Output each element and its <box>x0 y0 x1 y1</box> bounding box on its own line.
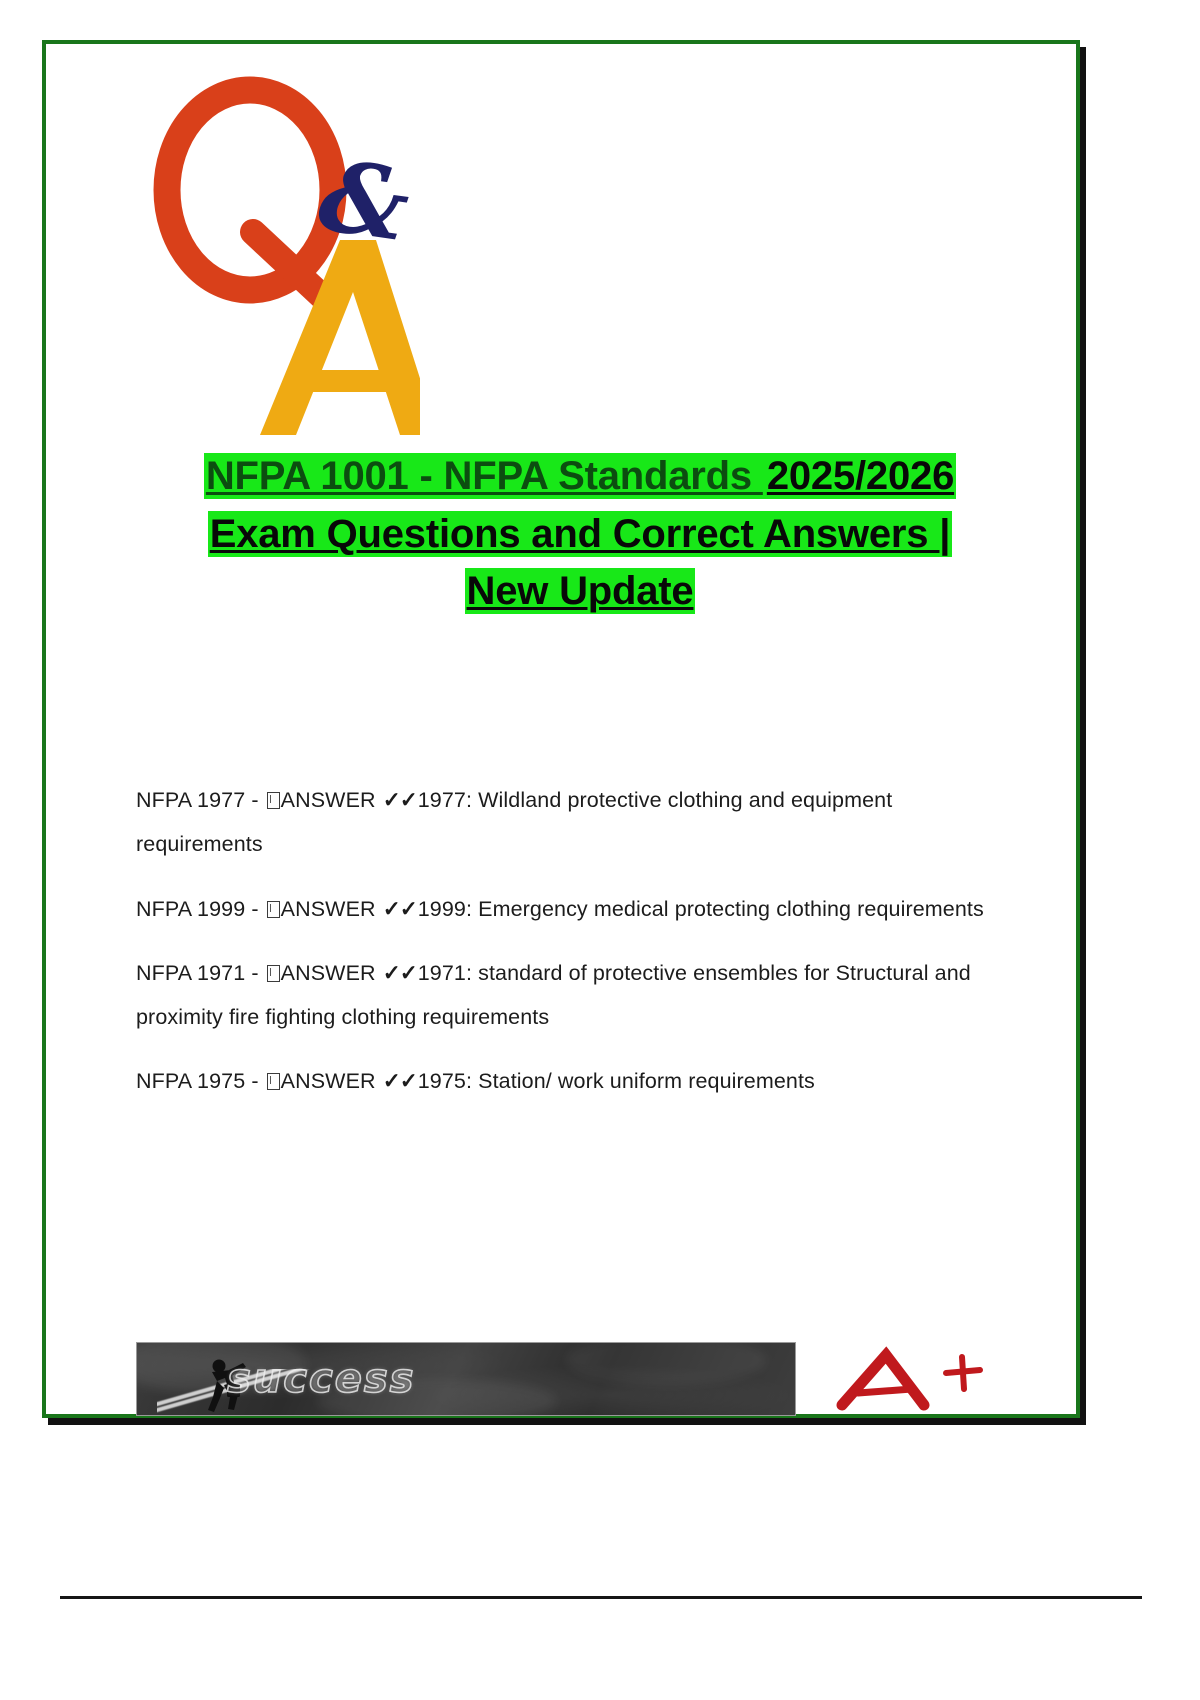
qa-prompt: NFPA 1971 - <box>136 961 265 985</box>
title-line-3-text: New Update <box>465 568 696 614</box>
missing-glyph-box-icon <box>267 901 280 918</box>
footer-divider <box>60 1596 1142 1599</box>
double-check-icon: ✓✓ <box>382 788 418 812</box>
qa-prompt: NFPA 1999 - <box>136 897 265 921</box>
qa-paragraph: NFPA 1971 - ANSWER ✓✓1971: standard of p… <box>136 951 1016 1040</box>
missing-glyph-box-icon <box>267 965 280 982</box>
climbing-figure-icon <box>195 1357 255 1413</box>
success-banner-row: success <box>136 1336 1016 1422</box>
title-line-1-black: 2025/2026 <box>765 453 956 499</box>
ladder-icon <box>157 1369 357 1415</box>
qa-paragraph: NFPA 1977 - ANSWER ✓✓1977: Wildland prot… <box>136 778 1016 867</box>
title-line-3: New Update <box>140 563 1020 621</box>
qa-answer-label: ANSWER <box>281 961 382 985</box>
double-check-icon: ✓✓ <box>382 897 418 921</box>
title-line-1-green: NFPA 1001 - NFPA Standards <box>204 453 765 499</box>
qa-answer-label: ANSWER <box>281 1069 382 1093</box>
logo-q-icon <box>167 90 333 302</box>
qa-answer: 1975: Station/ work uniform requirements <box>418 1069 815 1093</box>
double-check-icon: ✓✓ <box>382 1069 418 1093</box>
title-line-2: Exam Questions and Correct Answers | <box>140 506 1020 564</box>
qa-paragraph: NFPA 1975 - ANSWER ✓✓1975: Station/ work… <box>136 1059 1016 1103</box>
document-page: & NFPA 1001 - NFPA Standards 2025/2026 E… <box>0 0 1200 1700</box>
qa-paragraph: NFPA 1999 - ANSWER ✓✓1999: Emergency med… <box>136 887 1016 931</box>
qa-prompt: NFPA 1975 - <box>136 1069 265 1093</box>
qa-logo: & <box>150 65 420 440</box>
title-line-2-text: Exam Questions and Correct Answers | <box>208 511 953 557</box>
page-title: NFPA 1001 - NFPA Standards 2025/2026 Exa… <box>140 448 1020 621</box>
qa-body: NFPA 1977 - ANSWER ✓✓1977: Wildland prot… <box>136 778 1016 1104</box>
qa-answer-label: ANSWER <box>281 897 382 921</box>
qa-prompt: NFPA 1977 - <box>136 788 265 812</box>
success-chalkboard-banner: success <box>136 1342 796 1416</box>
title-line-1: NFPA 1001 - NFPA Standards 2025/2026 <box>140 448 1020 506</box>
double-check-icon: ✓✓ <box>382 961 418 985</box>
qa-answer-label: ANSWER <box>281 788 382 812</box>
missing-glyph-box-icon <box>267 1073 280 1090</box>
svg-text:&: & <box>313 138 417 264</box>
qa-answer: 1999: Emergency medical protecting cloth… <box>418 897 984 921</box>
logo-ampersand-icon: & <box>313 138 417 264</box>
a-plus-grade-mark <box>820 1343 1000 1415</box>
missing-glyph-box-icon <box>267 792 280 809</box>
